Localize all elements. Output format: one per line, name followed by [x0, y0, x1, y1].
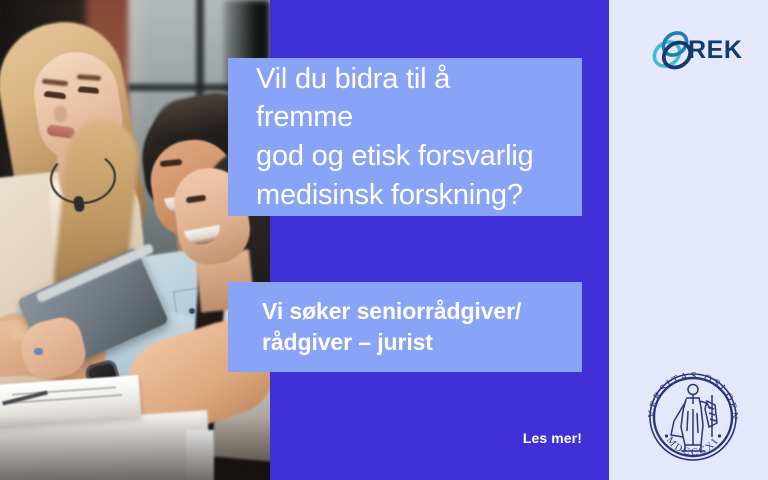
job-ad-banner: Vil du bidra til å fremme god og etisk f… — [0, 0, 768, 480]
job-title-box: Vi søker seniorrådgiver/ rådgiver – juri… — [228, 282, 582, 372]
rek-wordmark: REK — [688, 36, 743, 65]
headline-text: Vil du bidra til å fremme god og etisk f… — [256, 60, 554, 214]
uio-seal: UNIVERSITAS OSLOENSIS MDCCCXI — [641, 365, 745, 469]
person-one-ring — [34, 348, 43, 355]
university-of-oslo-seal-icon: UNIVERSITAS OSLOENSIS MDCCCXI — [641, 365, 745, 469]
person-two-shirt-button-upper — [189, 308, 195, 314]
read-more-link[interactable]: Les mer! — [443, 430, 582, 446]
headline-box: Vil du bidra til å fremme god og etisk f… — [228, 58, 582, 216]
person-one-nose — [54, 106, 67, 122]
rek-logo[interactable]: REK — [650, 28, 746, 74]
job-title-text: Vi søker seniorrådgiver/ rådgiver – juri… — [262, 296, 521, 358]
photo-vignette — [0, 416, 270, 480]
